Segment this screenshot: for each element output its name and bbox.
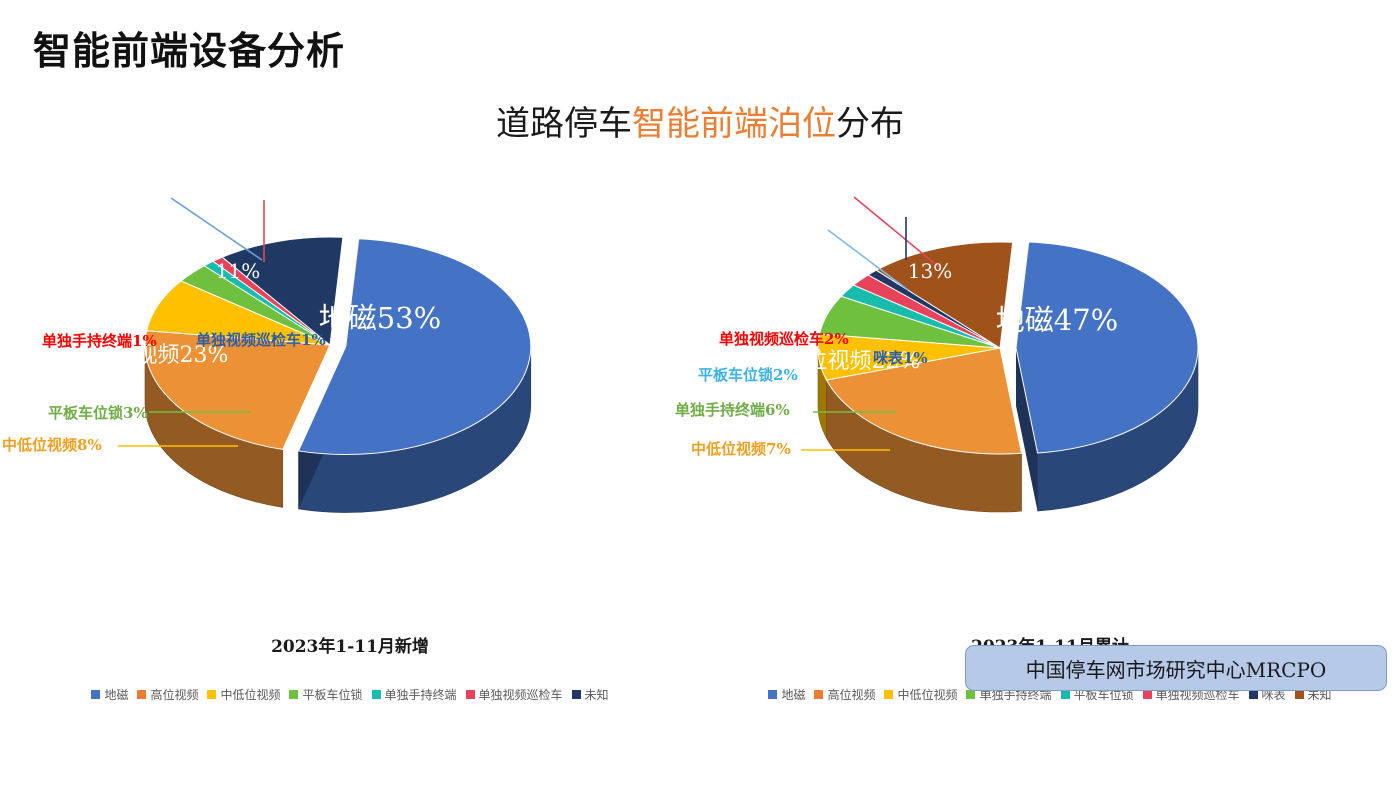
- legend-label: 单独视频巡检车: [479, 686, 563, 703]
- legend-item-1[interactable]: 高位视频: [137, 686, 198, 703]
- legend-item-3[interactable]: 平板车位锁: [289, 686, 362, 703]
- legend-swatch-icon: [814, 690, 823, 699]
- legend-item-0[interactable]: 地磁: [768, 686, 805, 703]
- legend-swatch-icon: [1295, 690, 1304, 699]
- callout-zhongdiwei-left: 中低位视频8%: [2, 434, 102, 455]
- legend-item-4[interactable]: 单独手持终端: [372, 686, 457, 703]
- chart-title-prefix: 道路停车: [496, 104, 632, 144]
- legend-swatch-icon: [768, 690, 777, 699]
- legend-swatch-icon: [1249, 690, 1258, 699]
- legend-new-2023: 地磁高位视频中低位视频平板车位锁单独手持终端单独视频巡检车未知: [0, 686, 700, 703]
- pie-slice-label: 地磁47%: [996, 303, 1118, 337]
- source-badge: 中国停车网市场研究中心MRCPO: [965, 645, 1387, 691]
- legend-label: 未知: [585, 686, 609, 703]
- legend-swatch-icon: [91, 690, 100, 699]
- pie-chart-new-2023: 地磁53%高位视频23%11% 单独手持终端1% 单独视频巡检车1% 平板车位锁…: [0, 150, 700, 570]
- legend-swatch-icon: [372, 690, 381, 699]
- chart-title-highlight: 智能前端泊位: [632, 104, 836, 144]
- legend-item-6[interactable]: 未知: [572, 686, 609, 703]
- callout-mibiao-right: 咪表1%: [873, 347, 928, 368]
- pie-graphic-new-2023: 地磁53%高位视频23%11%: [0, 150, 700, 570]
- legend-swatch-icon: [207, 690, 216, 699]
- legend-swatch-icon: [289, 690, 298, 699]
- legend-swatch-icon: [466, 690, 475, 699]
- legend-item-1[interactable]: 高位视频: [814, 686, 875, 703]
- legend-swatch-icon: [572, 690, 581, 699]
- pie-slice-label: 13%: [908, 259, 952, 283]
- legend-swatch-icon: [966, 690, 975, 699]
- subtitle-new-2023: 2023年1-11月新增: [0, 632, 700, 657]
- callout-xunjianche-left: 单独视频巡检车1%: [196, 329, 326, 350]
- legend-label: 平板车位锁: [302, 686, 362, 703]
- legend-swatch-icon: [137, 690, 146, 699]
- chart-title-suffix: 分布: [836, 104, 904, 144]
- callout-shouchi-right: 单独手持终端6%: [675, 399, 790, 420]
- pie-slice-label: 11%: [216, 259, 260, 283]
- legend-label: 高位视频: [150, 686, 198, 703]
- legend-item-0[interactable]: 地磁: [91, 686, 128, 703]
- pie-graphic-cumulative-2023: 地磁47%高位视频22%13%: [700, 150, 1400, 570]
- legend-label: 中低位视频: [220, 686, 280, 703]
- pie-chart-cumulative-2023: 地磁47%高位视频22%13% 单独视频巡检车2% 咪表1% 平板车位锁2% 单…: [700, 150, 1400, 570]
- legend-item-5[interactable]: 单独视频巡检车: [466, 686, 563, 703]
- legend-label: 单独手持终端: [385, 686, 457, 703]
- callout-pingban-right: 平板车位锁2%: [698, 364, 798, 385]
- legend-label: 中低位视频: [897, 686, 957, 703]
- legend-swatch-icon: [1143, 690, 1152, 699]
- chart-title: 道路停车智能前端泊位分布: [0, 96, 1400, 145]
- page-title: 智能前端设备分析: [33, 20, 345, 75]
- legend-label: 地磁: [781, 686, 805, 703]
- legend-label: 地磁: [104, 686, 128, 703]
- callout-xunjianche-right: 单独视频巡检车2%: [719, 328, 849, 349]
- pie-slice-label: 地磁53%: [319, 301, 441, 335]
- slide-canvas: 智能前端设备分析 道路停车智能前端泊位分布 地磁53%高位视频23%11% 单独…: [0, 0, 1400, 787]
- legend-item-2[interactable]: 中低位视频: [884, 686, 957, 703]
- callout-shouchi-left: 单独手持终端1%: [42, 330, 157, 351]
- legend-label: 高位视频: [827, 686, 875, 703]
- legend-item-2[interactable]: 中低位视频: [207, 686, 280, 703]
- legend-swatch-icon: [884, 690, 893, 699]
- callout-pingban-left: 平板车位锁3%: [48, 402, 148, 423]
- callout-zhongdiwei-right: 中低位视频7%: [691, 438, 791, 459]
- legend-swatch-icon: [1061, 690, 1070, 699]
